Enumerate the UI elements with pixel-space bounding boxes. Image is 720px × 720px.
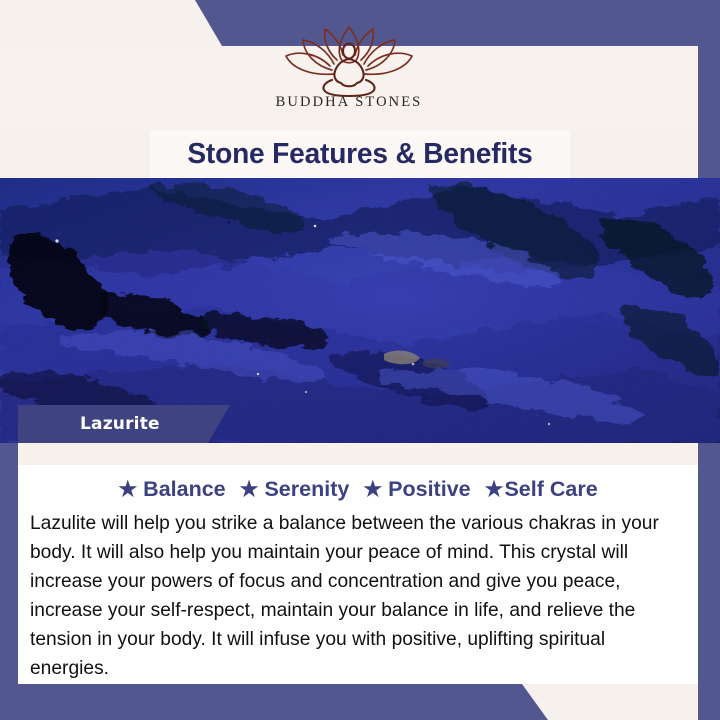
star-icon: ★ [485,477,504,502]
content-panel: ★ Balance ★ Serenity ★ Positive ★ Self C… [18,443,698,684]
benefit-label: Positive [388,477,470,502]
benefit-item: ★ Self Care [485,477,598,502]
page-title: Stone Features & Benefits [187,138,532,171]
brand-name: BUDDHA STONES [276,94,423,111]
star-icon: ★ [118,477,137,502]
content-top-tint [18,443,698,465]
benefit-label: Balance [143,477,225,502]
lotus-meditation-icon [274,24,424,98]
brand-logo: BUDDHA STONES [0,46,698,111]
bottom-navy-band [0,684,720,720]
star-icon: ★ [363,477,382,502]
infographic-page: BUDDHA STONES Stone Features & Benefits [0,0,720,720]
benefit-item: ★ Balance [118,477,225,502]
page-title-band: Stone Features & Benefits [150,130,570,178]
stone-description: Lazulite will help you strike a balance … [30,509,680,683]
star-icon: ★ [240,477,259,502]
benefit-label: Self Care [504,477,597,502]
brand-header: BUDDHA STONES [0,46,698,130]
lazurite-texture [0,178,720,443]
stone-name: Lazurite [80,414,160,434]
benefit-label: Serenity [264,477,349,502]
benefit-item: ★ Serenity [240,477,350,502]
benefits-list: ★ Balance ★ Serenity ★ Positive ★ Self C… [18,477,698,502]
stone-photo [0,178,720,443]
benefit-item: ★ Positive [363,477,470,502]
left-navy-band [0,440,18,702]
stone-name-label: Lazurite [18,405,230,443]
